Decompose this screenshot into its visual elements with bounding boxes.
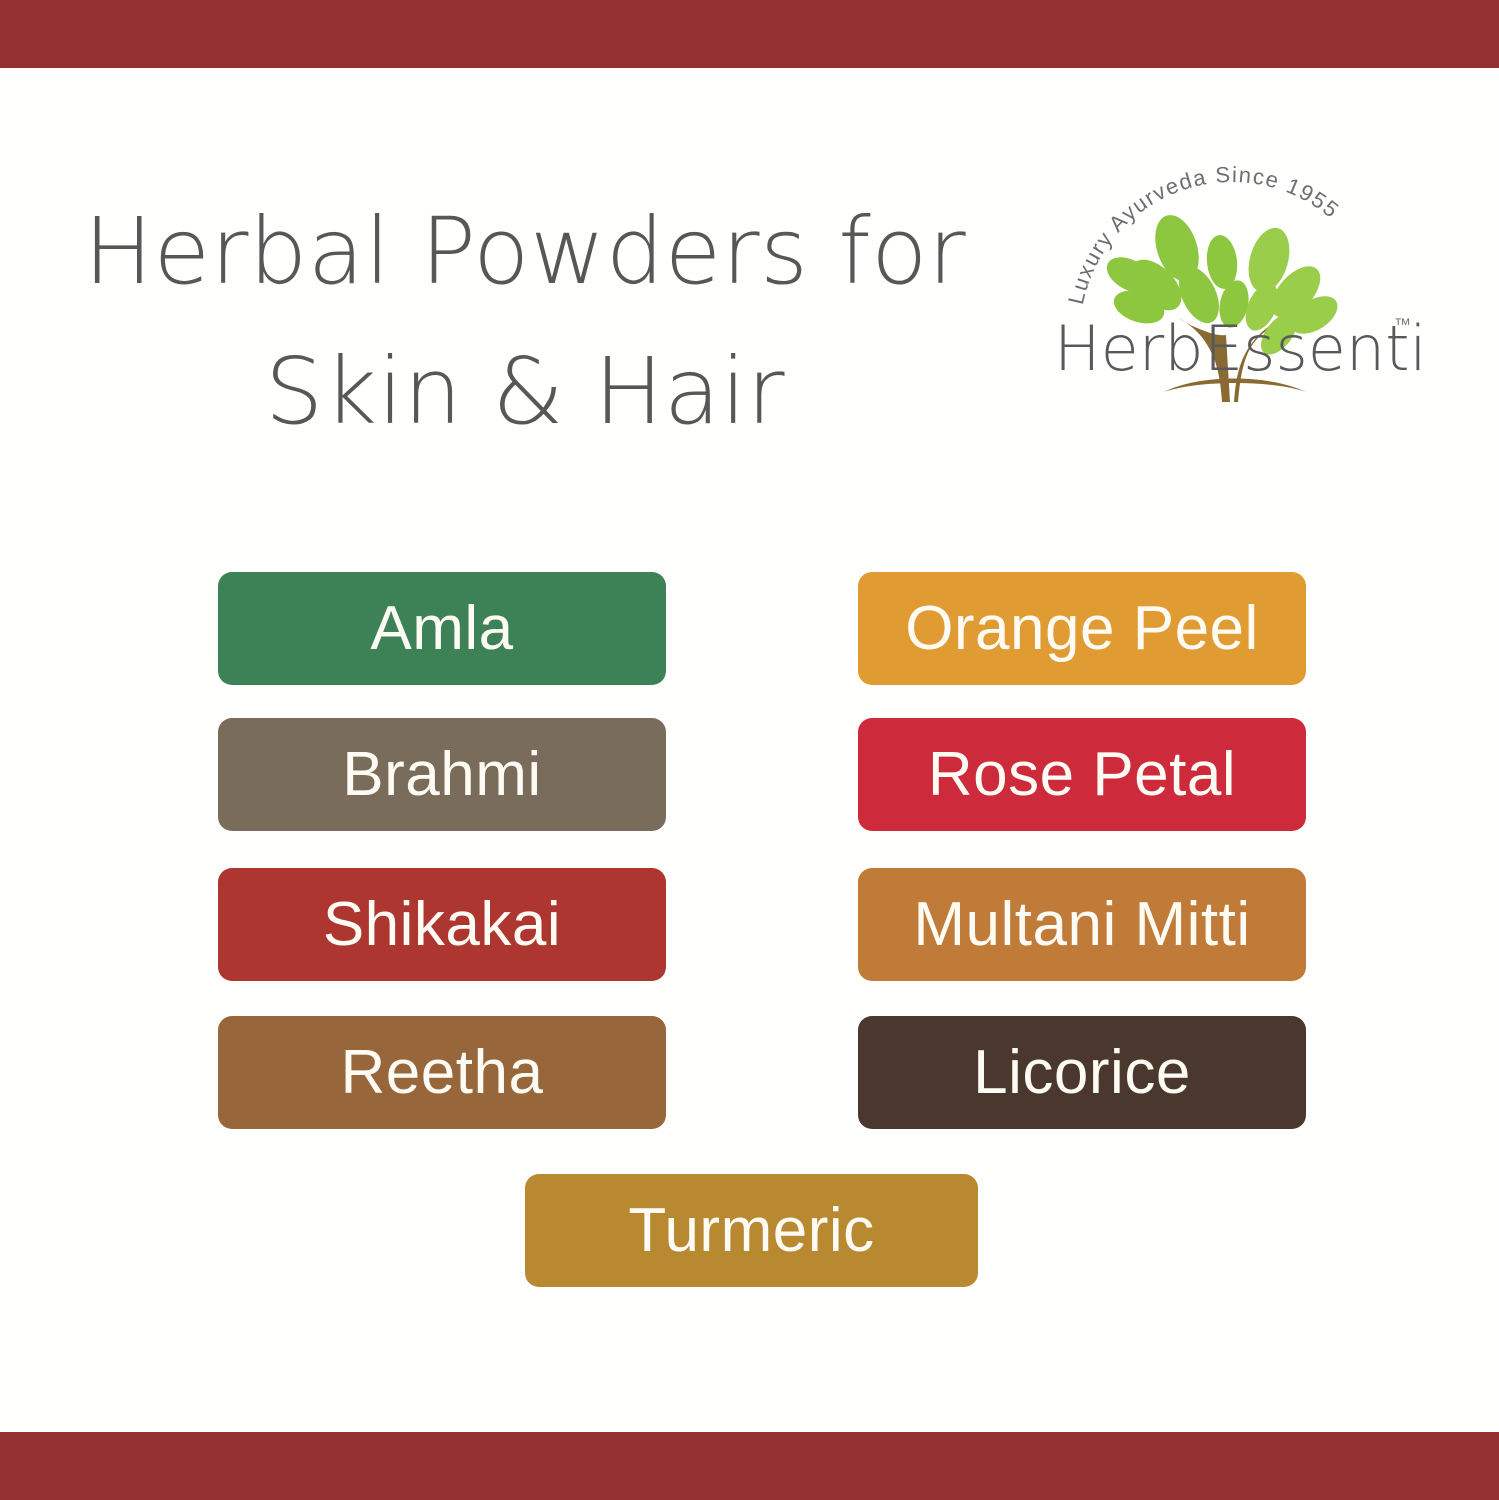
product-pill-orange-peel[interactable]: Orange Peel xyxy=(858,572,1306,685)
svg-text:Herb: Herb xyxy=(1054,312,1204,385)
product-pill-brahmi[interactable]: Brahmi xyxy=(218,718,666,831)
svg-text:Essential: Essential xyxy=(1204,312,1424,385)
product-pill-reetha[interactable]: Reetha xyxy=(218,1016,666,1129)
product-pill-label: Licorice xyxy=(973,1037,1191,1108)
product-pill-label: Amla xyxy=(370,593,513,664)
product-pill-label: Orange Peel xyxy=(905,593,1259,664)
product-infographic: Herbal Powders for Skin & Hair Luxury Ay… xyxy=(0,0,1499,1500)
svg-text:™: ™ xyxy=(1394,315,1411,334)
product-pill-multani-mitti[interactable]: Multani Mitti xyxy=(858,868,1306,981)
product-pill-rose-petal[interactable]: Rose Petal xyxy=(858,718,1306,831)
bottom-accent-band xyxy=(0,1432,1499,1500)
product-pill-label: Turmeric xyxy=(628,1195,874,1266)
product-pill-label: Brahmi xyxy=(342,739,541,810)
brand-logo: Luxury Ayurveda Since 1955 xyxy=(1044,152,1424,402)
product-pill-label: Reetha xyxy=(341,1037,544,1108)
product-pill-licorice[interactable]: Licorice xyxy=(858,1016,1306,1129)
product-pill-label: Multani Mitti xyxy=(913,889,1250,960)
top-accent-band xyxy=(0,0,1499,68)
product-pill-label: Rose Petal xyxy=(928,739,1236,810)
page-title: Herbal Powders for Skin & Hair xyxy=(60,182,990,462)
product-pill-label: Shikakai xyxy=(323,889,561,960)
product-pill-shikakai[interactable]: Shikakai xyxy=(218,868,666,981)
product-pill-amla[interactable]: Amla xyxy=(218,572,666,685)
product-pill-turmeric[interactable]: Turmeric xyxy=(525,1174,978,1287)
